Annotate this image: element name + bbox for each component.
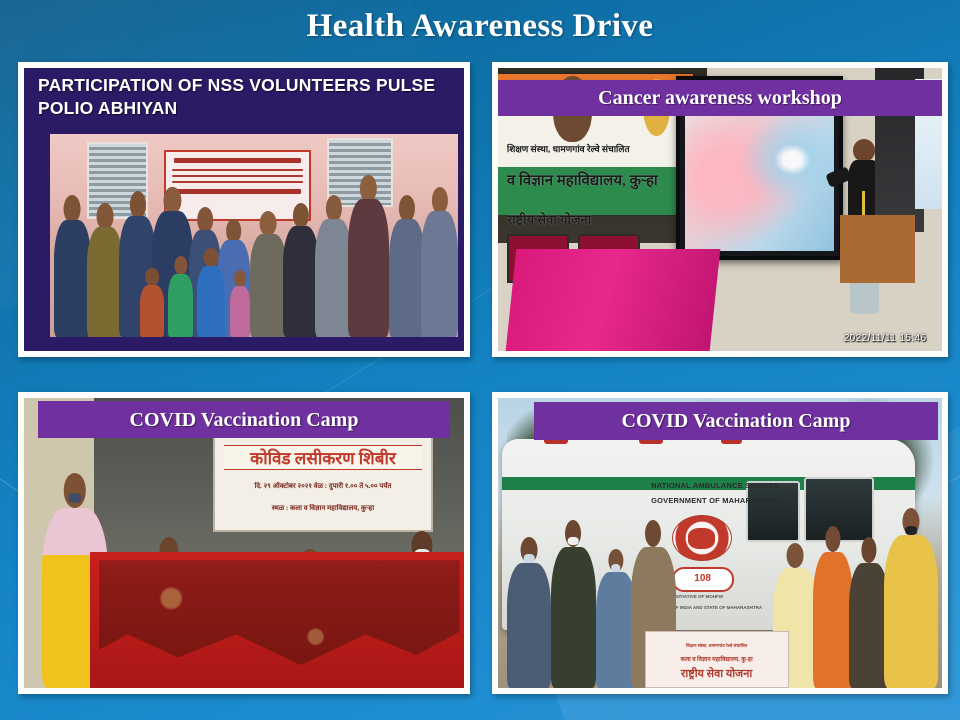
person: [421, 187, 458, 337]
child: [168, 256, 192, 337]
nss-banner-line-1: शिक्षण संस्था, धामणगांव रेल्वे संचालित: [646, 643, 788, 649]
person: [551, 520, 595, 688]
emergency-number-badge: 108: [672, 567, 734, 592]
child: [197, 248, 226, 337]
photo-timestamp: 2022/11/11 15:46: [844, 333, 927, 344]
ambulance-text-line-1: NATIONAL AMBULANCE SERVICE: [651, 481, 779, 490]
photo-covid-camp-table: " राष्ट्रीय सेवा योजना " कोविड लसीकरण शि…: [24, 398, 464, 688]
person: [54, 195, 91, 337]
photo-frame-bottom-left: " राष्ट्रीय सेवा योजना " कोविड लसीकरण शि…: [18, 392, 470, 694]
photo-frame-bottom-right: NATIONAL AMBULANCE SERVICE GOVERNMENT OF…: [492, 392, 948, 694]
photo-frame-top-left: PARTICIPATION OF NSS VOLUNTEERS PULSE PO…: [18, 62, 470, 357]
photo-inner-pulse-polio: [50, 134, 458, 337]
nss-banner-line-2: कला व विज्ञान महाविद्यालय, कु-हा: [646, 655, 788, 663]
person: [813, 526, 853, 688]
caption-banner-covid-camp-left: COVID Vaccination Camp: [38, 401, 450, 438]
photo-pulse-polio: PARTICIPATION OF NSS VOLUNTEERS PULSE PO…: [24, 68, 464, 351]
photo-cancer-workshop: शिक्षण संस्था, धामणगांव रेल्वे संचालित व…: [498, 68, 942, 351]
camp-banner-line-4: स्थळ : कला व विज्ञान महाविद्यालय, कुऱ्हा: [224, 504, 422, 513]
person: [348, 175, 389, 337]
government-emblem-icon: [672, 515, 732, 561]
person: [849, 537, 889, 688]
caption-banner-covid-camp-right: COVID Vaccination Camp: [534, 402, 938, 440]
nss-banner: शिक्षण संस्था, धामणगांव रेल्वे संचालित क…: [645, 631, 789, 688]
ambulance-text-line-2: GOVERNMENT OF MAHARASHTRA: [651, 496, 784, 505]
person: [596, 549, 636, 688]
camp-banner-line-2: कोविड लसीकरण शिबीर: [224, 445, 422, 470]
photo-frame-top-right: शिक्षण संस्था, धामणगांव रेल्वे संचालित व…: [492, 62, 948, 357]
person: [315, 195, 352, 337]
cabinet: [840, 215, 915, 283]
caption-banner-cancer-workshop: Cancer awareness workshop: [498, 80, 942, 116]
person: [87, 203, 124, 337]
person: [389, 195, 426, 337]
page-title: Health Awareness Drive: [0, 8, 960, 45]
caption-text: COVID Vaccination Camp: [622, 411, 851, 431]
ambulance-window: [746, 481, 800, 542]
person: [507, 537, 551, 688]
photo-covid-camp-ambulance: NATIONAL AMBULANCE SERVICE GOVERNMENT OF…: [498, 398, 942, 688]
caption-text: COVID Vaccination Camp: [130, 410, 359, 430]
person: [283, 203, 320, 337]
caption-text: Cancer awareness workshop: [598, 88, 842, 108]
child: [140, 268, 164, 337]
person: [884, 508, 937, 688]
camp-banner-line-3: दि. २९ ऑक्टोबर २०२१ वेळ : दुपारी १.०० ते…: [224, 482, 422, 491]
photo-caption-pulse-polio: PARTICIPATION OF NSS VOLUNTEERS PULSE PO…: [38, 74, 458, 120]
person: [250, 211, 287, 337]
child: [230, 270, 250, 337]
nss-banner-line-3: राष्ट्रीय सेवा योजना: [646, 666, 788, 681]
pink-curtain: [506, 249, 721, 351]
slide-canvas: Health Awareness Drive PARTICIPATION OF …: [0, 0, 960, 720]
